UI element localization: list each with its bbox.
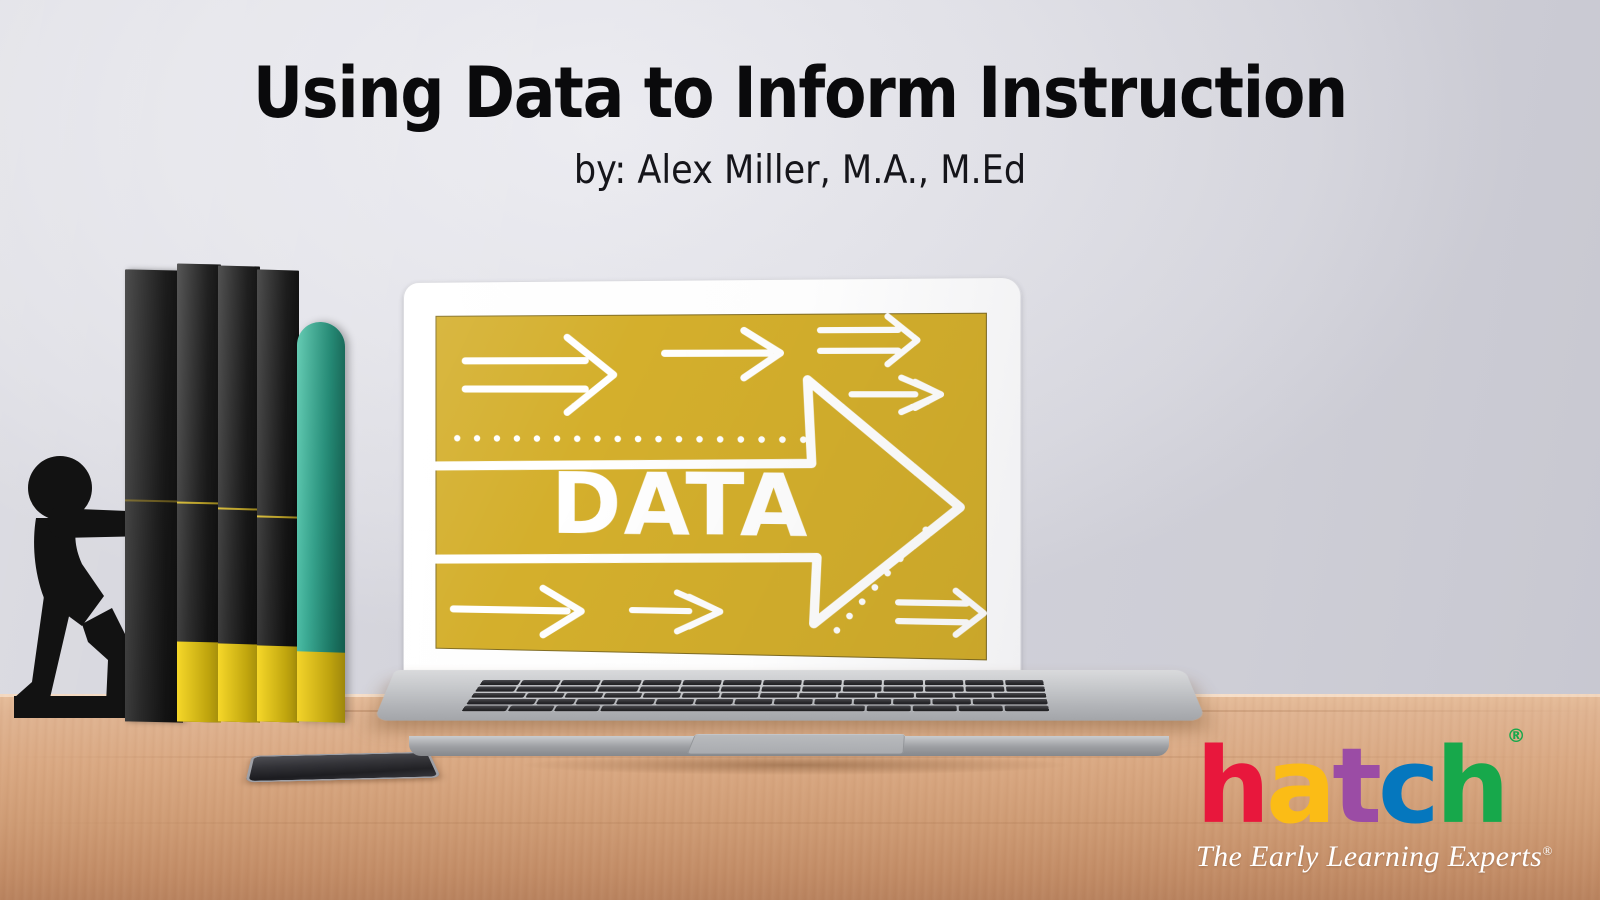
laptop-screen[interactable]: DATA <box>435 313 986 661</box>
chevron-arrow-right-upper <box>852 378 941 412</box>
laptop: DATA <box>395 282 1195 782</box>
author-byline: by: Alex Miller, M.A., M.Ed <box>80 148 1520 193</box>
logo-letter-h1: h <box>1196 734 1266 838</box>
logo-letter-a: a <box>1266 734 1332 838</box>
logo-letter-h2: h <box>1436 734 1506 838</box>
data-arrow-graphic: DATA <box>435 313 986 661</box>
trackpad[interactable] <box>687 734 905 754</box>
keyboard[interactable] <box>461 680 1049 711</box>
logo-wordmark: hatch® <box>1196 728 1592 838</box>
dotted-line-top <box>454 435 807 443</box>
stack-of-books <box>125 262 375 722</box>
laptop-lid: DATA <box>403 277 1021 697</box>
logo-letter-c: c <box>1378 734 1436 838</box>
double-line-arrow-top-left <box>465 337 614 412</box>
slide-canvas: Using Data to Inform Instruction by: Ale… <box>0 0 1600 900</box>
double-line-arrow-top-right <box>820 316 917 364</box>
hatch-logo: hatch® The Early Learning Experts® <box>1196 728 1592 868</box>
list-item <box>297 321 345 723</box>
title-block: Using Data to Inform Instruction by: Ale… <box>0 58 1600 193</box>
registered-trademark-icon: ® <box>1507 684 1526 788</box>
double-line-arrow-bottom-right <box>898 590 984 635</box>
page-title: Using Data to Inform Instruction <box>96 58 1504 128</box>
chevron-arrow-bottom-center <box>632 592 720 632</box>
logo-letter-t: t <box>1332 734 1378 838</box>
screen-word-data: DATA <box>551 454 810 557</box>
tagline-registered-icon: ® <box>1542 843 1552 858</box>
list-item <box>218 265 260 722</box>
list-item <box>177 263 221 722</box>
list-item <box>257 269 299 722</box>
single-line-arrow-top-center <box>665 330 781 377</box>
single-line-arrow-bottom-left <box>453 587 581 636</box>
list-item <box>125 269 183 722</box>
